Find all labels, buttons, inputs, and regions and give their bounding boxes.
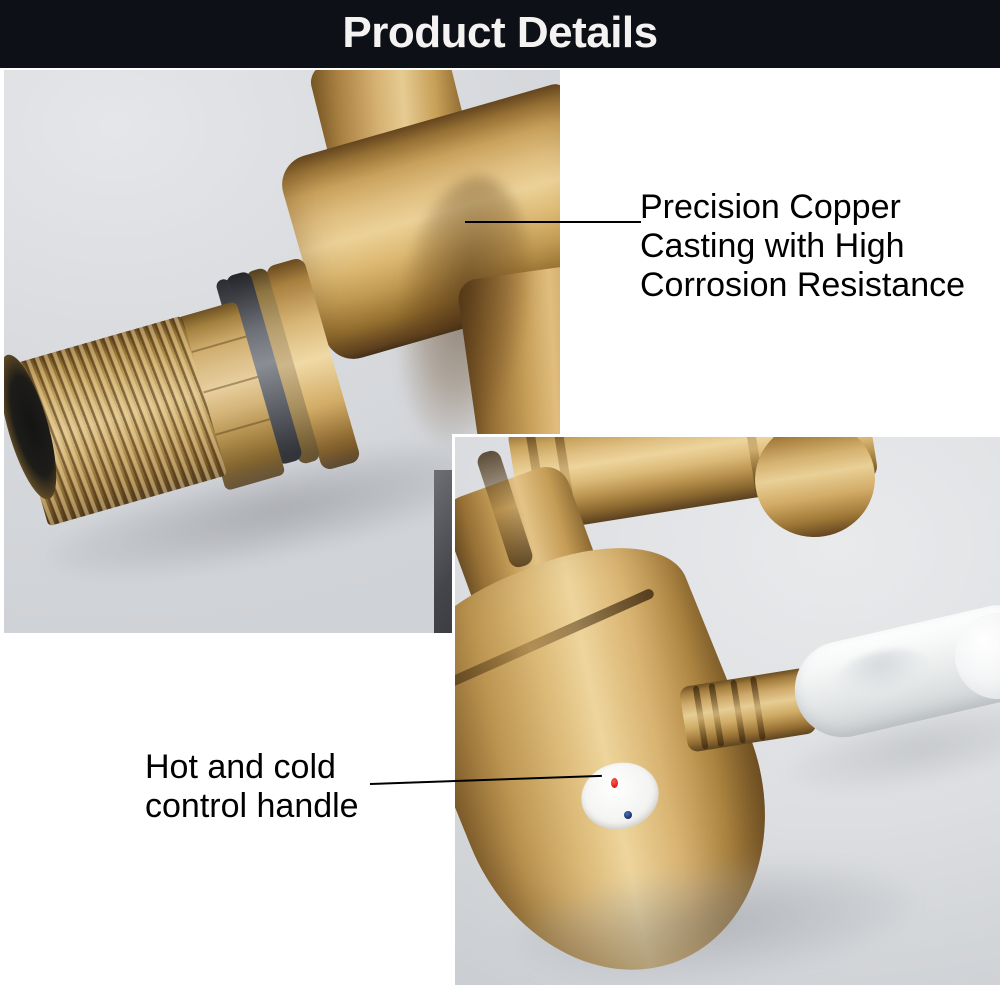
spout-bulb-shape: [747, 434, 884, 546]
page-title: Product Details: [342, 11, 657, 55]
stem-ring: [730, 679, 746, 743]
stem-ring: [693, 685, 709, 749]
callout-two-label: Hot and cold control handle: [145, 748, 385, 826]
hex-nut-groove: [186, 336, 246, 355]
stem-ring: [750, 676, 766, 740]
cold-indicator-dot: [624, 811, 632, 819]
stem-ring: [708, 683, 724, 747]
callout-one-leader-line: [465, 221, 641, 223]
faucet-handle-photo: [452, 434, 1000, 985]
hex-nut-groove: [210, 418, 270, 437]
callout-one-label: Precision Copper Casting with High Corro…: [640, 188, 1000, 305]
hot-indicator-dot: [611, 778, 618, 788]
header-bar: Product Details: [0, 0, 1000, 68]
product-details-page: { "header": { "title": "Product Details"…: [0, 0, 1000, 991]
hex-nut-groove: [198, 376, 258, 395]
